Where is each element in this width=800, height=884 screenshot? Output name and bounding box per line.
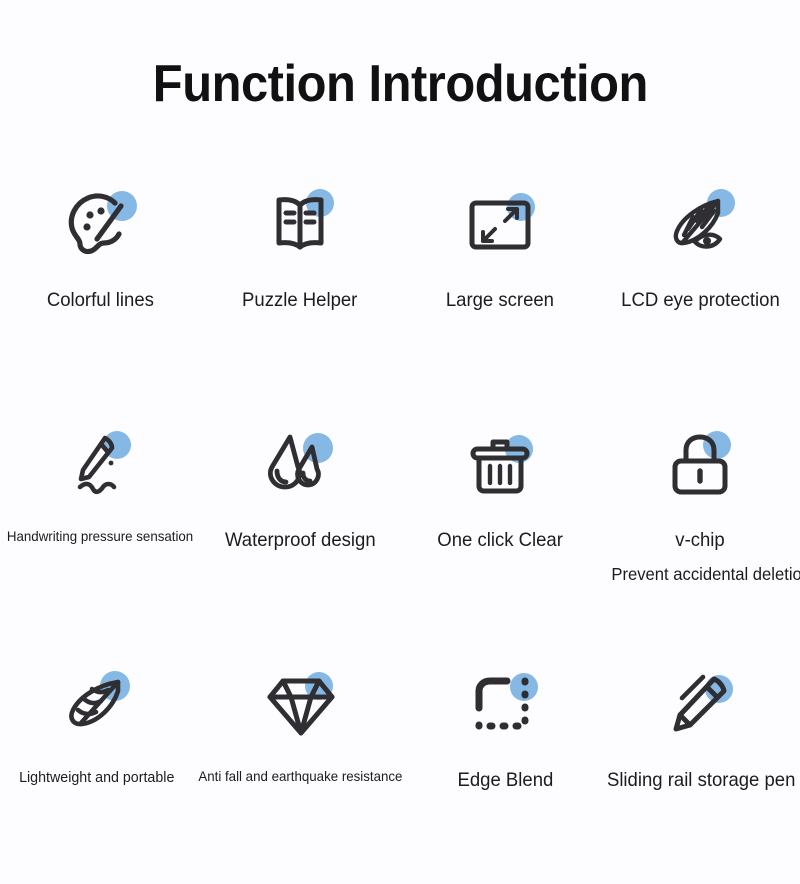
feature-label: Anti fall and earthquake resistance [199, 768, 403, 786]
feature-label: Handwriting pressure sensation [7, 528, 193, 546]
feature-label: Large screen [446, 288, 554, 313]
feature-cell-one-click-clear[interactable]: One click Clear [400, 404, 600, 644]
feature-label: LCD eye protection [621, 288, 780, 313]
feature-cell-anti-fall[interactable]: Anti fall and earthquake resistance [193, 644, 408, 884]
feature-label: One click Clear [437, 528, 563, 553]
feature-caption: Sliding rail storage pen [602, 768, 800, 793]
padlock-icon [657, 423, 743, 509]
feature-cell-lightweight-portable[interactable]: Lightweight and portable [0, 644, 193, 884]
feature-label: v-chip [675, 528, 724, 553]
dashed-corner-icon [462, 663, 548, 749]
feature-caption: One click Clear [434, 528, 566, 553]
feature-cell-v-chip[interactable]: v-chip Prevent accidental deletion [600, 404, 800, 644]
feature-caption: Anti fall and earthquake resistance [193, 768, 408, 786]
icon-container [57, 164, 143, 288]
page-title: Function Introduction [152, 57, 647, 112]
feature-label: Puzzle Helper [242, 288, 357, 313]
feature-caption: Handwriting pressure sensation [2, 528, 198, 546]
feature-caption: v-chip Prevent accidental deletion [674, 528, 726, 553]
pencil-stylus-icon [658, 663, 744, 749]
icon-container [54, 644, 140, 768]
feature-grid: Colorful lines Puz [0, 164, 800, 884]
feature-row: Lightweight and portable Anti fal [0, 644, 800, 884]
icon-container [258, 644, 344, 768]
feature-caption: Lightweight and portable [15, 768, 178, 787]
icon-container [457, 404, 543, 528]
water-drops-icon [257, 423, 343, 509]
feature-caption: Edge Blend [455, 768, 556, 793]
trash-can-icon [457, 423, 543, 509]
icon-container [57, 404, 143, 528]
feature-cell-handwriting-pressure[interactable]: Handwriting pressure sensation [0, 404, 200, 644]
feature-caption: Large screen [443, 288, 557, 313]
feature-cell-lcd-eye-protection[interactable]: LCD eye protection [600, 164, 800, 404]
function-introduction-page: Function Introduction [0, 0, 800, 800]
feature-cell-waterproof-design[interactable]: Waterproof design [200, 404, 400, 644]
feature-label: Sliding rail storage pen [607, 768, 795, 793]
feature-caption: Puzzle Helper [239, 288, 360, 313]
feature-row: Handwriting pressure sensation [0, 404, 800, 644]
feature-caption: Colorful lines [44, 288, 157, 313]
leaf-eye-icon [657, 183, 743, 269]
feature-label: Lightweight and portable [19, 768, 174, 787]
icon-container [462, 644, 548, 768]
open-book-icon [257, 183, 343, 269]
feature-sublabel: Prevent accidental deletion [578, 563, 800, 585]
feature-caption: LCD eye protection [617, 288, 784, 313]
feature-cell-sliding-rail-pen[interactable]: Sliding rail storage pen [602, 644, 800, 884]
feature-label: Waterproof design [225, 528, 376, 553]
icon-container [658, 644, 744, 768]
feature-caption: Waterproof design [221, 528, 380, 553]
icon-container [657, 404, 743, 528]
feature-cell-puzzle-helper[interactable]: Puzzle Helper [200, 164, 400, 404]
icon-container [457, 164, 543, 288]
expand-screen-icon [457, 183, 543, 269]
diamond-icon [258, 663, 344, 749]
icon-container [657, 164, 743, 288]
feather-icon [54, 663, 140, 749]
feature-cell-large-screen[interactable]: Large screen [400, 164, 600, 404]
feature-row: Colorful lines Puz [0, 164, 800, 404]
pen-signature-icon [57, 423, 143, 509]
feature-cell-colorful-lines[interactable]: Colorful lines [0, 164, 200, 404]
title-container: Function Introduction [0, 0, 800, 146]
icon-container [257, 404, 343, 528]
palette-icon [57, 183, 143, 269]
feature-cell-edge-blend[interactable]: Edge Blend [408, 644, 601, 884]
icon-container [257, 164, 343, 288]
feature-label: Edge Blend [457, 768, 553, 793]
feature-label: Colorful lines [46, 288, 153, 313]
